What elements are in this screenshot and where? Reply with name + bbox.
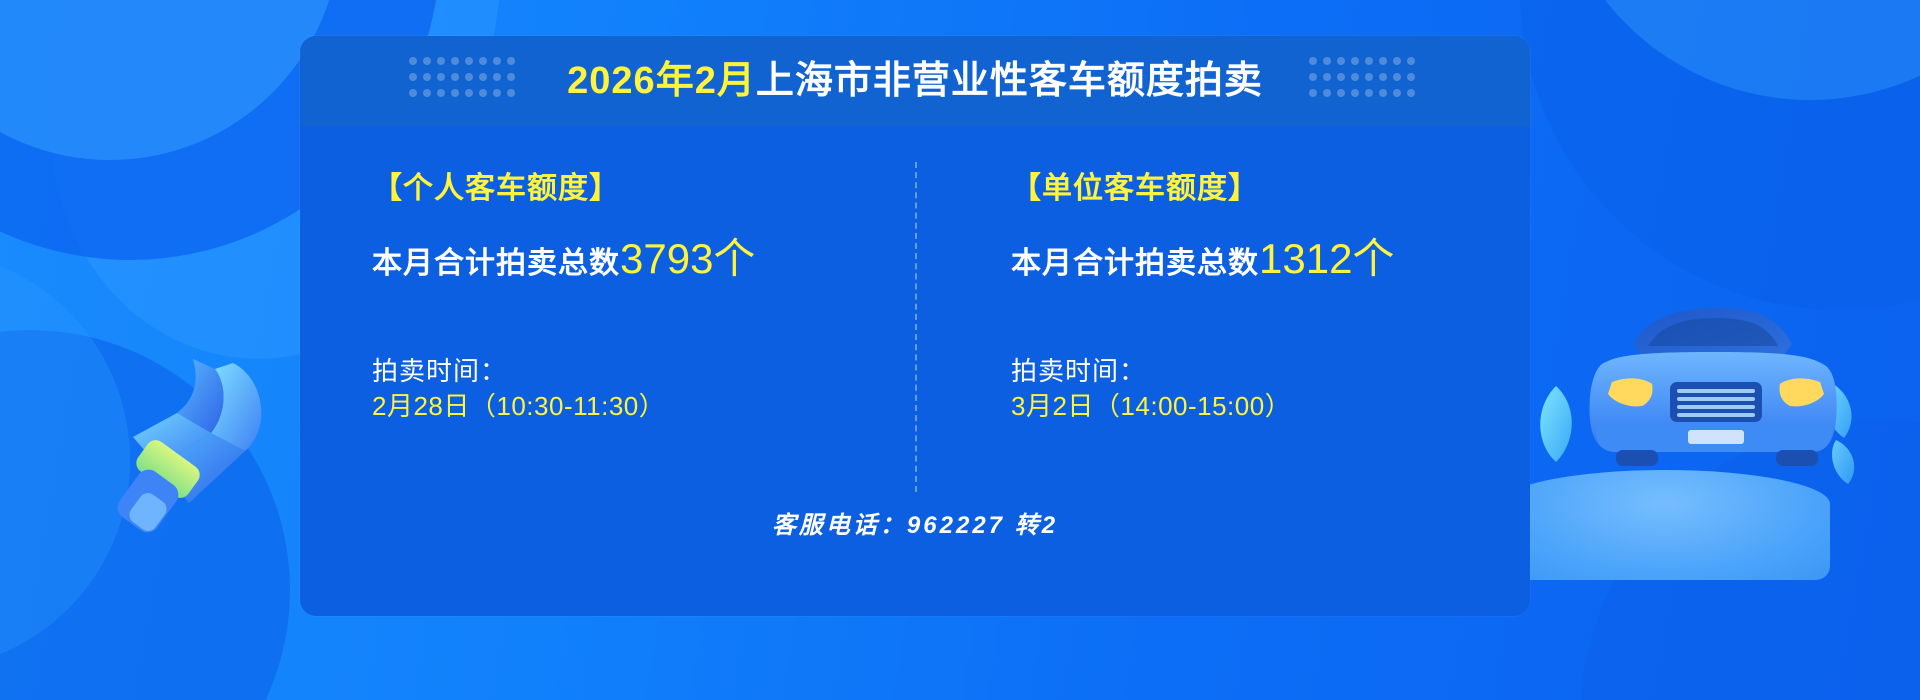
personal-auction-time-label: 拍卖时间：: [372, 354, 915, 389]
company-quota-column: 【单位客车额度】 本月合计拍卖总数1312个 拍卖时间： 3月2日（14:00-…: [915, 174, 1530, 546]
personal-quota-total-label: 本月合计拍卖总数: [372, 247, 620, 280]
personal-auction-time-value: 2月28日（10:30-11:30）: [372, 389, 915, 424]
page-title-period: 2026年2月: [567, 60, 756, 102]
company-auction-time: 拍卖时间： 3月2日（14:00-15:00）: [1011, 354, 1530, 424]
car-icon: [1530, 290, 1860, 580]
page-title-rest: 上海市非营业性客车额度拍卖: [756, 60, 1263, 102]
personal-quota-total-value: 3793个: [620, 235, 755, 282]
company-quota-total: 本月合计拍卖总数1312个: [1011, 238, 1530, 280]
personal-quota-category: 【个人客车额度】: [372, 174, 915, 204]
personal-auction-time: 拍卖时间： 2月28日（10:30-11:30）: [372, 354, 915, 424]
company-auction-time-value: 3月2日（14:00-15:00）: [1011, 389, 1530, 424]
company-auction-time-label: 拍卖时间：: [1011, 354, 1530, 389]
dot-grid-icon-right: [1309, 57, 1421, 105]
page-title: 2026年2月上海市非营业性客车额度拍卖: [567, 62, 1263, 100]
personal-quota-column: 【个人客车额度】 本月合计拍卖总数3793个 拍卖时间： 2月28日（10:30…: [300, 174, 915, 546]
dot-grid-icon-left: [409, 57, 521, 105]
card-header: 2026年2月上海市非营业性客车额度拍卖: [300, 36, 1530, 126]
company-quota-total-value: 1312个: [1259, 235, 1394, 282]
quota-columns: 【个人客车额度】 本月合计拍卖总数3793个 拍卖时间： 2月28日（10:30…: [300, 126, 1530, 546]
company-quota-category: 【单位客车额度】: [1011, 174, 1530, 204]
company-quota-total-label: 本月合计拍卖总数: [1011, 247, 1259, 280]
column-divider: [915, 162, 917, 492]
service-phone: 客服电话：962227 转2: [300, 505, 1530, 540]
personal-quota-total: 本月合计拍卖总数3793个: [372, 238, 915, 280]
auction-announcement-card: 2026年2月上海市非营业性客车额度拍卖 【个人客车额度】 本月合计拍卖总数37…: [300, 36, 1530, 616]
megaphone-icon: [115, 355, 315, 535]
